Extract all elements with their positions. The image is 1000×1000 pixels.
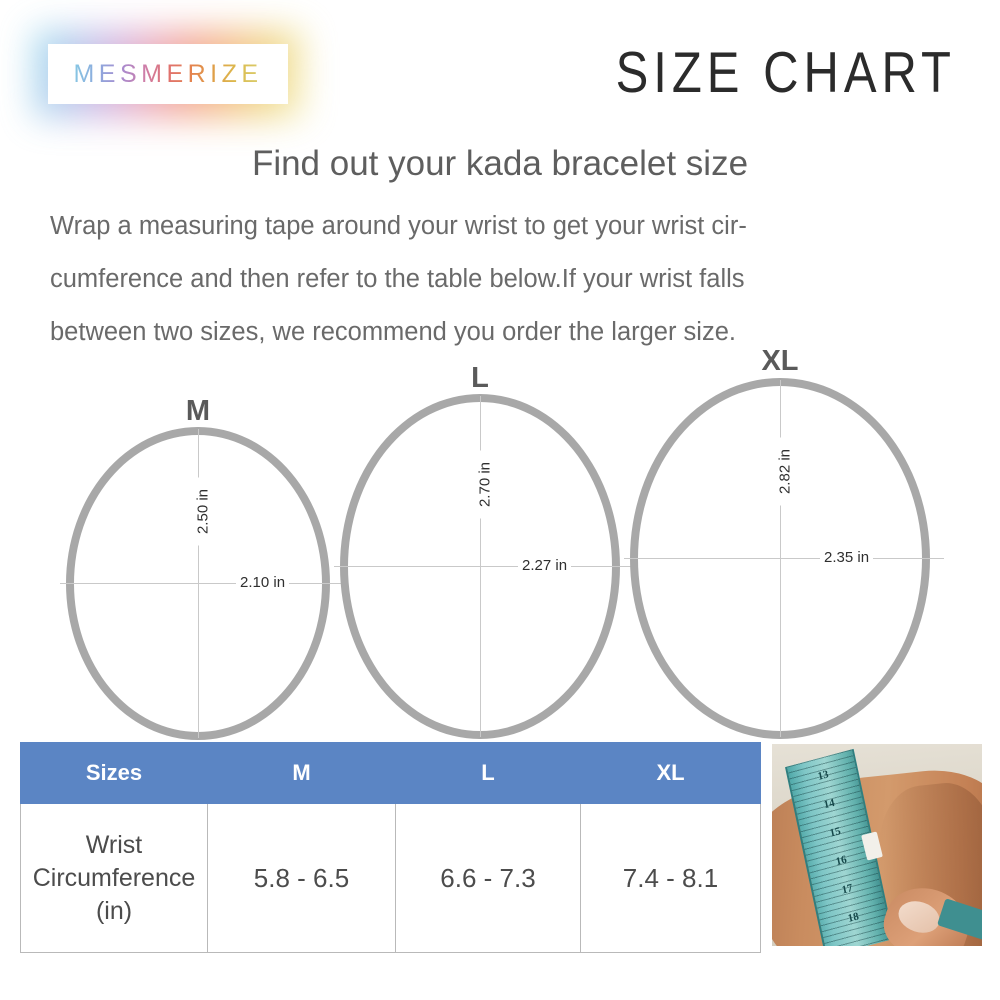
oval-width-label-xl: 2.35 in bbox=[820, 549, 873, 566]
table-header-sizes: Sizes bbox=[21, 743, 208, 804]
table-cell-xl: 7.4 - 8.1 bbox=[581, 804, 761, 953]
row-label-line-3: (in) bbox=[22, 895, 206, 928]
page-title: SIZE CHART bbox=[616, 40, 956, 106]
size-chart-page: MESMERIZE SIZE CHART Find out your kada … bbox=[0, 0, 1000, 1000]
oval-label-l: L bbox=[340, 362, 620, 395]
subheading: Find out your kada bracelet size bbox=[0, 144, 1000, 184]
intro-line-1: Wrap a measuring tape around your wrist … bbox=[50, 200, 955, 253]
oval-group-xl: XL 2.82 in 2.35 in bbox=[630, 345, 930, 725]
table-cell-l: 6.6 - 7.3 bbox=[396, 804, 581, 953]
table-header-l: L bbox=[396, 743, 581, 804]
wrist-measurement-photo: 13 14 15 16 17 18 bbox=[772, 744, 982, 946]
oval-height-label-l: 2.70 in bbox=[477, 451, 494, 519]
bracelet-size-diagram: M 2.50 in 2.10 in L 2.70 in 2.27 in XL 2… bbox=[0, 340, 1000, 740]
logo-box: MESMERIZE bbox=[48, 44, 288, 104]
oval-height-label-m: 2.50 in bbox=[195, 478, 212, 546]
table-cell-m: 5.8 - 6.5 bbox=[208, 804, 396, 953]
logo-wordmark: MESMERIZE bbox=[73, 60, 262, 89]
table-row: Wrist Circumference (in) 5.8 - 6.5 6.6 -… bbox=[21, 804, 761, 953]
intro-line-2: cumference and then refer to the table b… bbox=[50, 253, 955, 306]
oval-width-label-m: 2.10 in bbox=[236, 574, 289, 591]
oval-label-m: M bbox=[66, 395, 330, 428]
oval-label-xl: XL bbox=[630, 345, 930, 378]
oval-axis-horizontal-xl bbox=[624, 558, 944, 559]
oval-axis-horizontal-l bbox=[334, 566, 634, 567]
row-label-line-2: Circumference bbox=[22, 862, 206, 895]
table-row-label: Wrist Circumference (in) bbox=[21, 804, 208, 953]
oval-width-label-l: 2.27 in bbox=[518, 557, 571, 574]
row-label-line-1: Wrist bbox=[22, 829, 206, 862]
brand-logo: MESMERIZE bbox=[48, 44, 288, 104]
size-table: Sizes M L XL Wrist Circumference (in) 5.… bbox=[20, 742, 761, 953]
oval-height-label-xl: 2.82 in bbox=[777, 438, 794, 506]
oval-axis-horizontal-m bbox=[60, 583, 348, 584]
table-header-xl: XL bbox=[581, 743, 761, 804]
table-header-m: M bbox=[208, 743, 396, 804]
oval-group-m: M 2.50 in 2.10 in bbox=[66, 395, 330, 725]
oval-group-l: L 2.70 in 2.27 in bbox=[340, 362, 620, 722]
intro-paragraph: Wrap a measuring tape around your wrist … bbox=[50, 200, 955, 359]
table-header-row: Sizes M L XL bbox=[21, 743, 761, 804]
